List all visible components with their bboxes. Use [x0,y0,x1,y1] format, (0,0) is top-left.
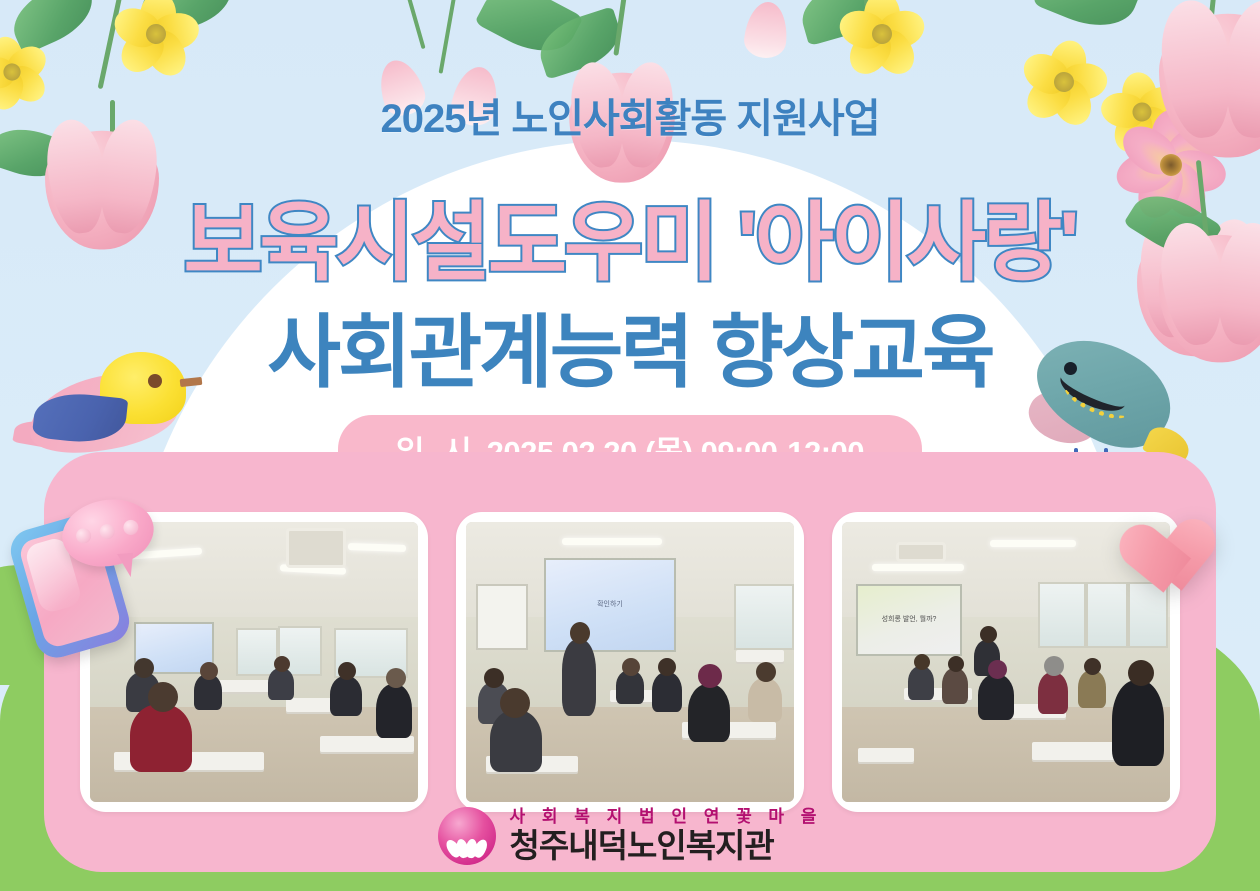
program-subtitle: 2025년 노인사회활동 지원사업 [0,86,1260,144]
photo-instructor-body [562,640,596,716]
photo-attendee-head [622,658,640,676]
photo-desk [858,748,914,762]
photo-window [236,628,278,676]
photo-air-conditioner [286,528,346,568]
photo-attendee-head [1084,658,1101,675]
photo-lectern [736,650,784,662]
photo-attendee [748,678,782,722]
speech-bubble-dot [99,523,116,540]
speech-bubble-dot [75,527,92,544]
photo-attendee [1112,680,1164,766]
photo-attendee [1038,672,1068,714]
photo-instructor-presenting: 확인하기 [466,522,794,802]
photo-attendee [490,710,542,772]
photo-ceiling-light [990,540,1076,547]
photo-attendee-head [1128,660,1154,686]
photo-attendee-head [500,688,530,718]
footer-logo-area: 사 회 복 지 법 인 연 꽃 마 을 청주내덕노인복지관 [0,807,1260,865]
photo-attendee [942,668,968,704]
org-name: 청주내덕노인복지관 [510,829,823,864]
photo-attendee-head [274,656,290,672]
heart-icon [1100,485,1192,577]
photo-whiteboard [476,584,528,650]
photo-attendee-head [988,660,1007,679]
photo-attendee [978,674,1014,720]
photo-instructor-head [570,622,590,644]
photo-attendee-head [698,664,722,688]
photo-attendee-head [200,662,218,680]
photo-projector-screen: 확인하기 [544,558,676,652]
poster-root: 2025년 노인사회활동 지원사업 보육시설도우미 '아이사랑' 사회관계능력 … [0,0,1260,891]
photo-attendee-head [134,658,154,678]
photo-attendee-head [756,662,776,682]
photo-classroom-audience [90,522,418,802]
photo-instructor-head [980,626,997,643]
photo-attendee [376,684,412,738]
page-title-line1: 보육시설도우미 '아이사랑' [0,172,1260,297]
photo-attendee-head [914,654,930,670]
photo-attendee-head [948,656,964,672]
photo-projector [896,542,946,562]
speech-bubble-tail [117,553,135,578]
photo-attendee [330,676,362,716]
photo-card-2[interactable]: 확인하기 [456,512,804,812]
photo-attendee-head [148,682,178,712]
photo-desk [320,736,414,752]
photo-ceiling-light [872,564,964,571]
photo-screen-text: 확인하기 [597,600,623,611]
photo-attendee [688,684,730,742]
photo-attendee-head [386,668,406,688]
photo-attendee-head [484,668,504,688]
photo-attendee-head [1044,656,1064,676]
photo-attendee-head [658,658,676,676]
photo-screen-text: 성희롱 발언, 뭘까? [882,615,937,626]
photo-attendee [652,672,682,712]
photo-ceiling-light [562,538,662,545]
photo-window [1086,582,1128,648]
photo-attendee [908,666,934,700]
photo-window [734,584,794,650]
photo-attendee-head [338,662,356,680]
speech-bubble-dot [122,519,139,536]
lotus-petals [448,838,486,858]
photo-attendee [130,704,192,772]
page-title-line2: 사회관계능력 향상교육 [0,288,1260,404]
photo-attendee [1078,670,1106,708]
org-subtitle: 사 회 복 지 법 인 연 꽃 마 을 [510,808,823,826]
photo-projector-screen: 성희롱 발언, 뭘까? [856,584,962,656]
footer-text-block: 사 회 복 지 법 인 연 꽃 마 을 청주내덕노인복지관 [510,808,823,863]
lotus-logo-icon [438,807,496,865]
photo-attendee [268,668,294,700]
photo-window [1038,582,1086,648]
